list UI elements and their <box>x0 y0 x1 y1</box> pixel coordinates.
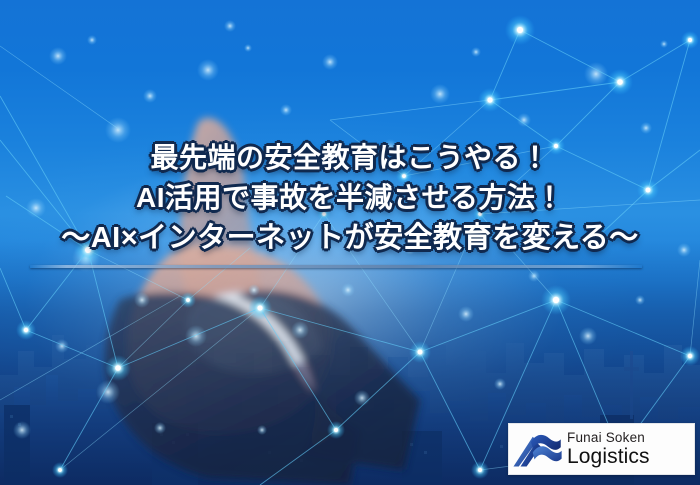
funai-soken-wave-mark-icon <box>509 427 567 471</box>
brand-logo-panel: Funai Soken Logistics <box>508 423 695 475</box>
banner-title: 最先端の安全教育はこうやる！ AI活用で事故を半減させる方法！ ～AI×インター… <box>0 138 700 258</box>
title-line-3: ～AI×インターネットが安全教育を変える～ <box>0 218 700 258</box>
seminar-banner: .ln { stroke:#63cbf7; stroke-width:.9; o… <box>0 0 700 485</box>
title-line-1: 最先端の安全教育はこうやる！ <box>0 138 700 178</box>
brand-wordmark: Funai Soken Logistics <box>567 431 658 468</box>
brand-name-bottom: Logistics <box>567 446 650 467</box>
title-divider-rule <box>30 265 642 268</box>
brand-name-top: Funai Soken <box>567 431 650 445</box>
title-line-2: AI活用で事故を半減させる方法！ <box>0 178 700 218</box>
